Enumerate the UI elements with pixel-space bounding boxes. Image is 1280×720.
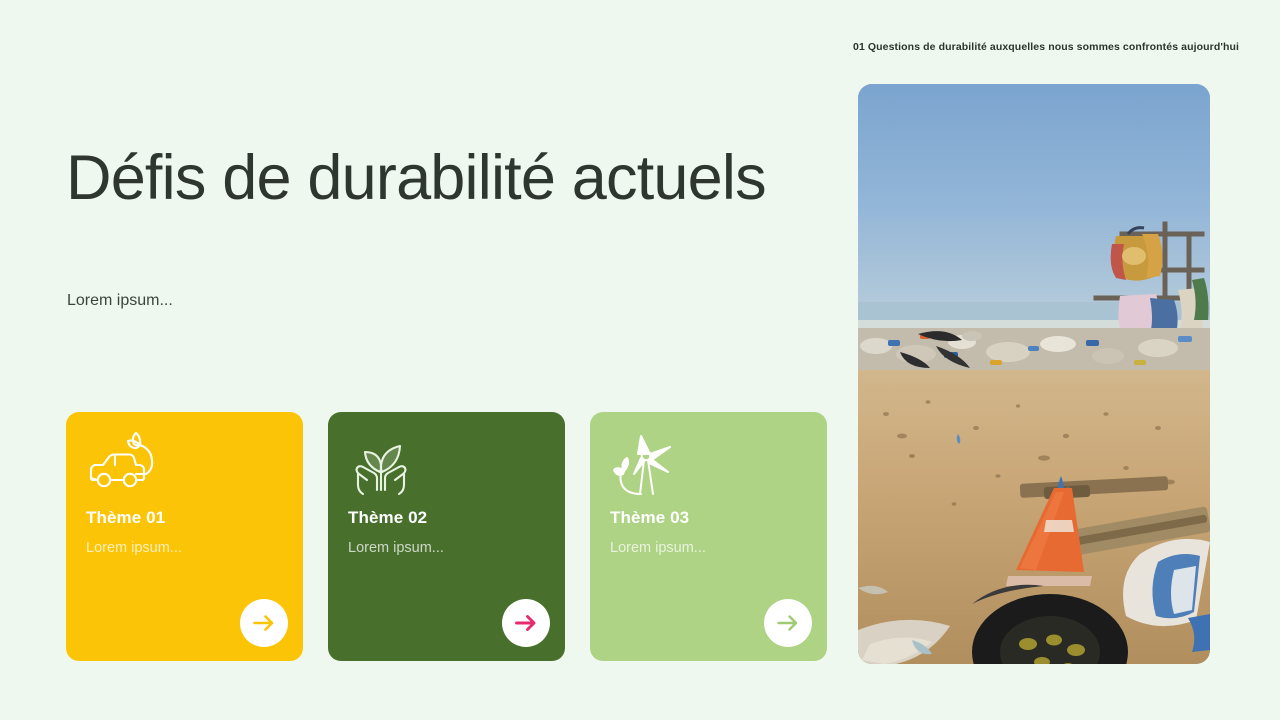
card-arrow-button[interactable] xyxy=(240,599,288,647)
card-arrow-button[interactable] xyxy=(502,599,550,647)
arrow-right-icon xyxy=(775,610,801,636)
theme-card-description: Lorem ipsum... xyxy=(610,540,706,556)
polluted-beach-illustration xyxy=(858,84,1210,664)
section-eyebrow-label: 01 Questions de durabilité auxquelles no… xyxy=(853,41,1219,53)
theme-card-title: Thème 02 xyxy=(348,508,427,528)
card-arrow-button[interactable] xyxy=(764,599,812,647)
theme-card-title: Thème 03 xyxy=(610,508,689,528)
theme-card-01[interactable]: Thème 01 Lorem ipsum... xyxy=(66,412,303,661)
hero-photo-polluted-beach xyxy=(858,84,1210,664)
page-subtitle: Lorem ipsum... xyxy=(67,292,173,310)
theme-card-description: Lorem ipsum... xyxy=(348,540,444,556)
arrow-right-icon xyxy=(513,610,539,636)
arrow-right-icon xyxy=(251,610,277,636)
page-title: Défis de durabilité actuels xyxy=(66,141,766,215)
hands-holding-plant-icon xyxy=(346,432,418,500)
theme-card-03[interactable]: Thème 03 Lorem ipsum... xyxy=(590,412,827,661)
theme-card-title: Thème 01 xyxy=(86,508,165,528)
hero-column: Défis de durabilité actuels Lorem ipsum.… xyxy=(66,0,826,720)
wind-turbine-sprout-icon xyxy=(608,432,680,500)
theme-card-description: Lorem ipsum... xyxy=(86,540,182,556)
theme-card-list: Thème 01 Lorem ipsum... xyxy=(66,412,827,661)
theme-card-02[interactable]: Thème 02 Lorem ipsum... xyxy=(328,412,565,661)
electric-car-leaf-icon xyxy=(84,432,156,500)
